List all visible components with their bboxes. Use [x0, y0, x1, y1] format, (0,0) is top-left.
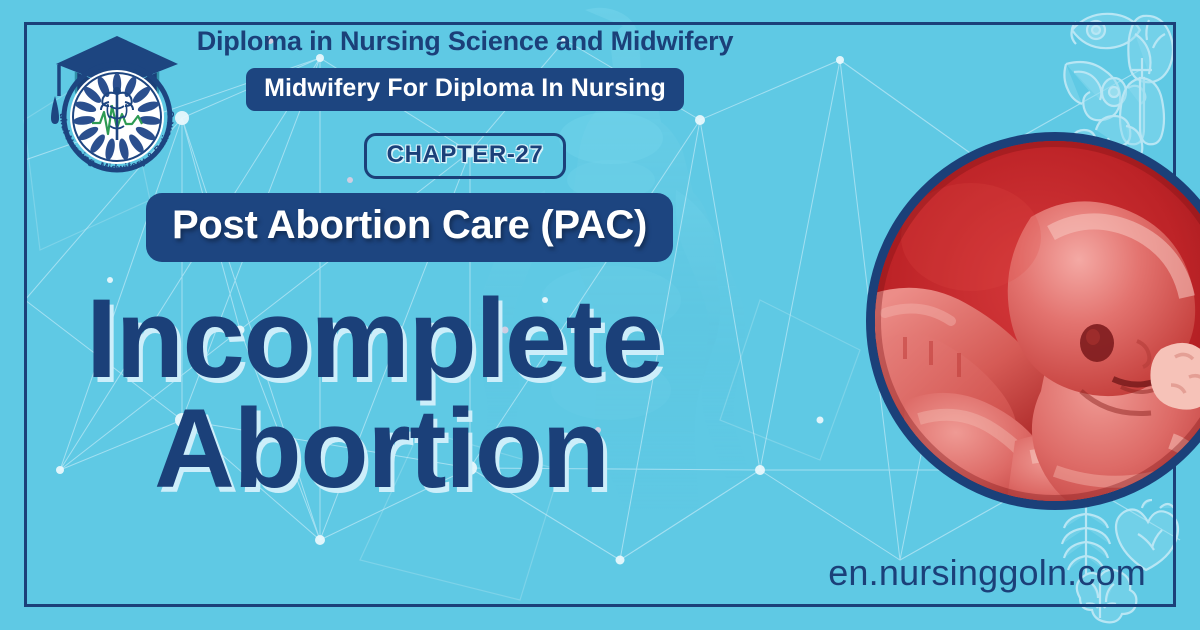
page-title-line-2: Abortion [86, 394, 846, 504]
poster-canvas: Gurukul Nursing, Midwifery & Patient Car… [0, 0, 1200, 630]
chapter-badge: CHAPTER-27 [364, 133, 567, 179]
subject-badge-row: Midwifery For Diploma In Nursing [0, 68, 1200, 111]
topic-bar-row: Post Abortion Care (PAC) [146, 193, 673, 262]
subject-badge: Midwifery For Diploma In Nursing [246, 68, 684, 111]
page-title: Incomplete Abortion [86, 284, 846, 504]
website-url[interactable]: en.nursinggoln.com [828, 552, 1146, 594]
topic-bar: Post Abortion Care (PAC) [146, 193, 673, 262]
fetus-illustration [866, 132, 1200, 510]
program-title: Diploma in Nursing Science and Midwifery [0, 26, 1200, 57]
page-title-line-1: Incomplete [86, 284, 846, 394]
fetus-illustration-svg [875, 141, 1200, 501]
